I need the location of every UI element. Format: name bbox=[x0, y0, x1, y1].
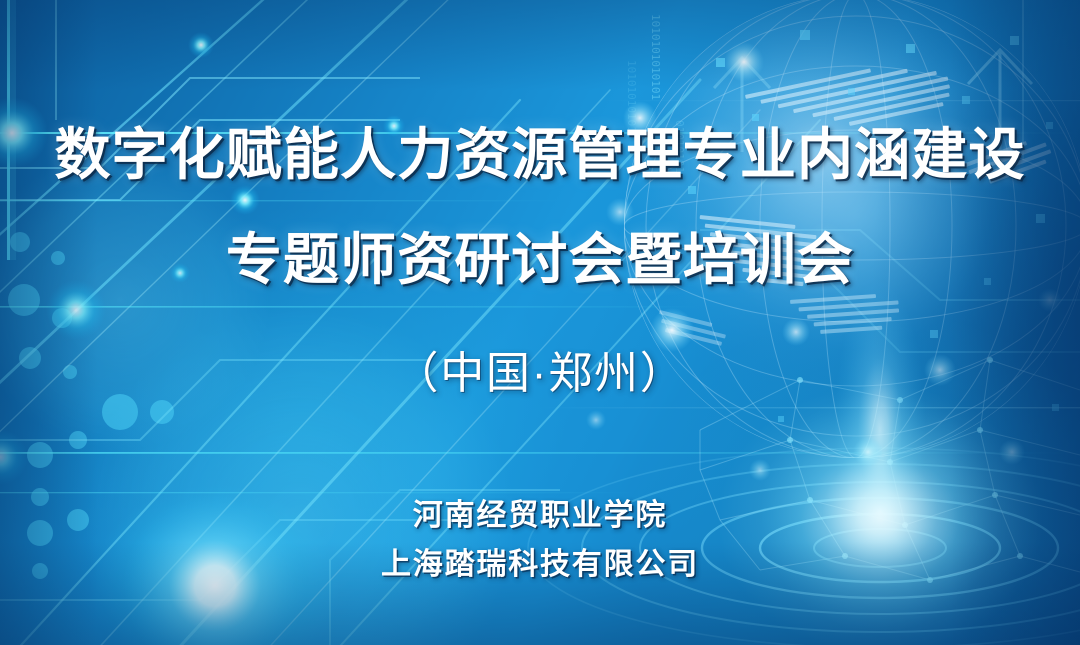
banner-title-line-2: 专题师资研讨会暨培训会 bbox=[0, 227, 1080, 293]
banner-title-line-1: 数字化赋能人力资源管理专业内涵建设 bbox=[0, 122, 1080, 188]
banner-text-block: 数字化赋能人力资源管理专业内涵建设 专题师资研讨会暨培训会 （中国·郑州） 河南… bbox=[0, 0, 1080, 645]
organizer-line-2: 上海踏瑞科技有限公司 bbox=[0, 546, 1080, 584]
organizer-line-1: 河南经贸职业学院 bbox=[0, 497, 1080, 535]
banner-location: （中国·郑州） bbox=[0, 347, 1080, 401]
banner-canvas: 1010101010101 01010101 10101010101 bbox=[0, 0, 1080, 645]
